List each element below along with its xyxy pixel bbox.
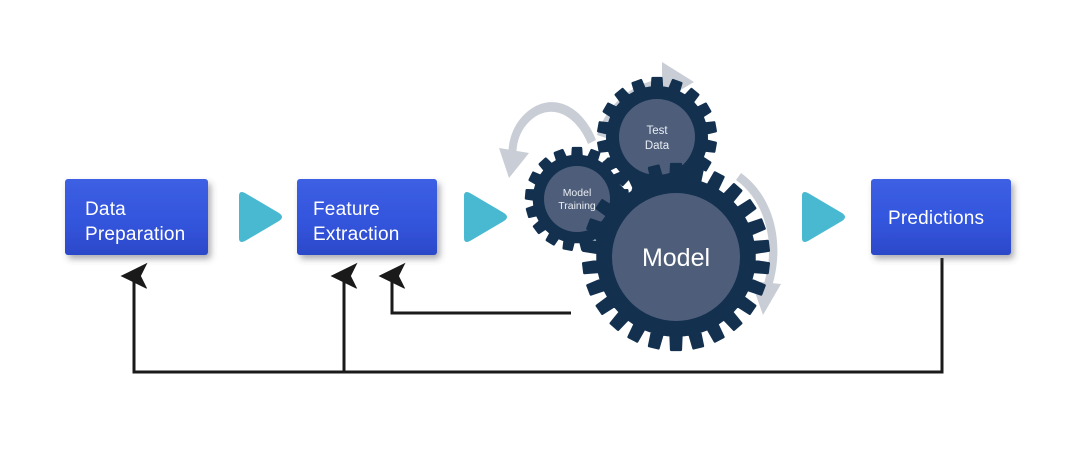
gear-model: Model — [583, 164, 769, 350]
feature-extraction-label-line1: Feature — [313, 199, 380, 220]
predictions-label: Predictions — [888, 208, 984, 229]
feedback-predictions-to-data-preparation — [134, 258, 942, 372]
stage-box-data-preparation[interactable]: Data Preparation — [65, 179, 208, 255]
arrow-model-to-predictions-icon — [802, 192, 845, 242]
arrow-feature-to-model-icon — [464, 192, 507, 242]
gear-model-label: Model — [642, 244, 710, 272]
feedback-lines — [134, 258, 942, 372]
data-preparation-label-line2: Preparation — [85, 224, 185, 245]
stage-box-feature-extraction[interactable]: Feature Extraction — [297, 179, 437, 255]
stage-box-predictions[interactable]: Predictions — [871, 179, 1011, 255]
gear-model-training-label-line2: Training — [558, 200, 596, 212]
pipeline-diagram: Model Training Test Data Model — [0, 0, 1080, 462]
gear-test-data-hub — [619, 99, 695, 175]
data-preparation-label-line1: Data — [85, 199, 126, 220]
arrow-prep-to-feature-icon — [239, 192, 282, 242]
diagram-canvas: Model Training Test Data Model — [0, 0, 1080, 462]
feedback-model-to-feature-extraction — [392, 276, 571, 313]
gear-test-data-label-line2: Data — [645, 140, 670, 152]
gear-model-training-label-line1: Model — [563, 187, 592, 199]
gear-test-data-label-line1: Test — [646, 125, 668, 137]
feature-extraction-label-line2: Extraction — [313, 224, 399, 245]
gear-cluster: Model Training Test Data Model — [526, 78, 769, 350]
